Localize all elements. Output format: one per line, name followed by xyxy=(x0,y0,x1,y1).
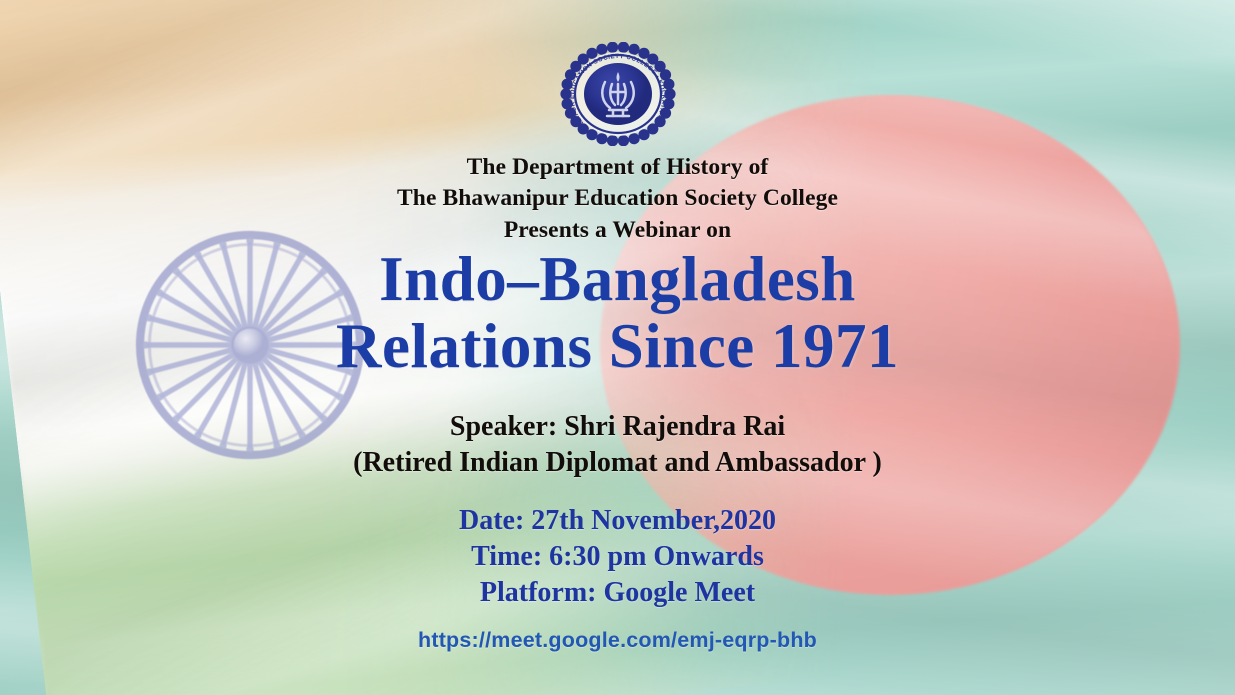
speaker-info: Speaker: Shri Rajendra Rai (Retired Indi… xyxy=(0,409,1235,481)
webinar-title: Indo–Bangladesh Relations Since 1971 xyxy=(0,246,1235,381)
header-line-1: The Department of History of xyxy=(0,152,1235,183)
header-text: The Department of History of The Bhawani… xyxy=(0,152,1235,246)
meeting-link-wrap: https://meet.google.com/emj-eqrp-bhb xyxy=(0,628,1235,653)
event-time: Time: 6:30 pm Onwards xyxy=(0,539,1235,575)
event-date: Date: 27th November,2020 xyxy=(0,503,1235,539)
speaker-designation: (Retired Indian Diplomat and Ambassador … xyxy=(0,445,1235,481)
event-details: Date: 27th November,2020 Time: 6:30 pm O… xyxy=(0,503,1235,611)
header-line-2: The Bhawanipur Education Society College xyxy=(0,183,1235,214)
title-line-2: Relations Since 1971 xyxy=(0,313,1235,380)
speaker-name: Speaker: Shri Rajendra Rai xyxy=(0,409,1235,445)
event-platform: Platform: Google Meet xyxy=(0,575,1235,611)
college-logo-icon: BHAWANIPUR EDUCATION SOCIETY COLLEGE • K… xyxy=(555,42,681,146)
webinar-poster: BHAWANIPUR EDUCATION SOCIETY COLLEGE • K… xyxy=(0,0,1235,695)
college-logo-wrap: BHAWANIPUR EDUCATION SOCIETY COLLEGE • K… xyxy=(0,42,1235,146)
google-meet-link[interactable]: https://meet.google.com/emj-eqrp-bhb xyxy=(418,628,817,652)
header-line-3: Presents a Webinar on xyxy=(0,215,1235,246)
title-line-1: Indo–Bangladesh xyxy=(0,246,1235,313)
